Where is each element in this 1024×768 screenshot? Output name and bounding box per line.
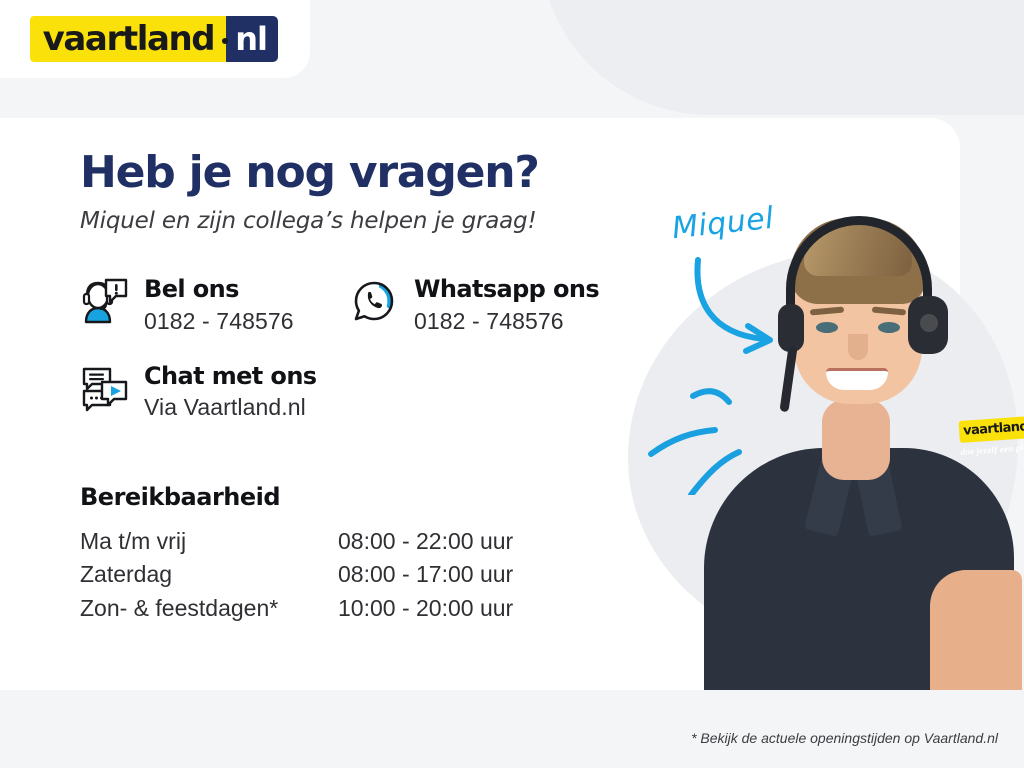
shirt-logo-wordmark: vaartland (959, 416, 1024, 443)
background-shape-top-right (540, 0, 1024, 115)
opening-hours-day: Ma t/m vrij (80, 525, 338, 558)
decorative-blue-dashes-icon (645, 360, 780, 495)
opening-hours-row: Ma t/m vrij 08:00 - 22:00 uur (80, 525, 640, 558)
headset-person-icon (80, 276, 136, 331)
agent-smile (826, 368, 888, 390)
contact-row: Chat met ons Via Vaartland.nl (80, 363, 640, 421)
agent-arm (930, 570, 1022, 690)
contact-title: Chat met ons (144, 363, 317, 389)
opening-hours-block: Bereikbaarheid Ma t/m vrij 08:00 - 22:00… (80, 483, 640, 625)
contact-row: Bel ons 0182 - 748576 Whatsapp ons 0182 … (80, 276, 640, 334)
opening-hours-time: 10:00 - 20:00 uur (338, 592, 513, 625)
opening-hours-day: Zon- & feestdagen* (80, 592, 338, 625)
contact-title: Bel ons (144, 276, 294, 302)
contact-value: 0182 - 748576 (144, 308, 294, 335)
headset-earcup-right-icon (908, 296, 948, 354)
shirt-logo-tagline: doe jezelf een plezier (960, 441, 1024, 457)
page-title: Heb je nog vragen? (80, 150, 640, 196)
opening-hours-day: Zaterdag (80, 558, 338, 591)
contact-text-block: Bel ons 0182 - 748576 (136, 276, 294, 334)
page-subtitle: Miquel en zijn collega’s helpen je graag… (80, 208, 640, 234)
logo-wordmark: vaartland (30, 16, 227, 62)
contact-methods-grid: Bel ons 0182 - 748576 Whatsapp ons 0182 … (80, 276, 640, 421)
contact-text-block: Chat met ons Via Vaartland.nl (136, 363, 317, 421)
contact-method-bel-ons[interactable]: Bel ons 0182 - 748576 (80, 276, 350, 334)
opening-hours-time: 08:00 - 17:00 uur (338, 558, 513, 591)
opening-hours-time: 08:00 - 22:00 uur (338, 525, 513, 558)
footnote-text: * Bekijk de actuele openingstijden op Va… (691, 730, 998, 746)
contact-method-chat-met-ons[interactable]: Chat met ons Via Vaartland.nl (80, 363, 350, 421)
opening-hours-table: Ma t/m vrij 08:00 - 22:00 uur Zaterdag 0… (80, 525, 640, 625)
contact-title: Whatsapp ons (414, 276, 599, 302)
curved-arrow-icon (690, 256, 800, 356)
opening-hours-title: Bereikbaarheid (80, 483, 640, 511)
agent-nose (848, 334, 868, 360)
vaartland-logo[interactable]: vaartland nl (30, 16, 278, 62)
contact-panel: Heb je nog vragen? Miquel en zijn colleg… (80, 150, 640, 625)
background-strip-bottom (0, 690, 1024, 768)
contact-method-whatsapp-ons[interactable]: Whatsapp ons 0182 - 748576 (350, 276, 599, 334)
logo-card: vaartland nl (0, 0, 310, 78)
logo-tld: nl (222, 16, 278, 62)
agent-neck (822, 400, 890, 480)
shirt-logo-badge: vaartland nl doe jezelf een plezier (959, 415, 1024, 467)
whatsapp-icon (350, 276, 406, 331)
chat-bubbles-icon (80, 363, 136, 418)
opening-hours-row: Zaterdag 08:00 - 17:00 uur (80, 558, 640, 591)
contact-value: 0182 - 748576 (414, 308, 599, 335)
contact-text-block: Whatsapp ons 0182 - 748576 (406, 276, 599, 334)
opening-hours-row: Zon- & feestdagen* 10:00 - 20:00 uur (80, 592, 640, 625)
contact-value: Via Vaartland.nl (144, 394, 317, 421)
